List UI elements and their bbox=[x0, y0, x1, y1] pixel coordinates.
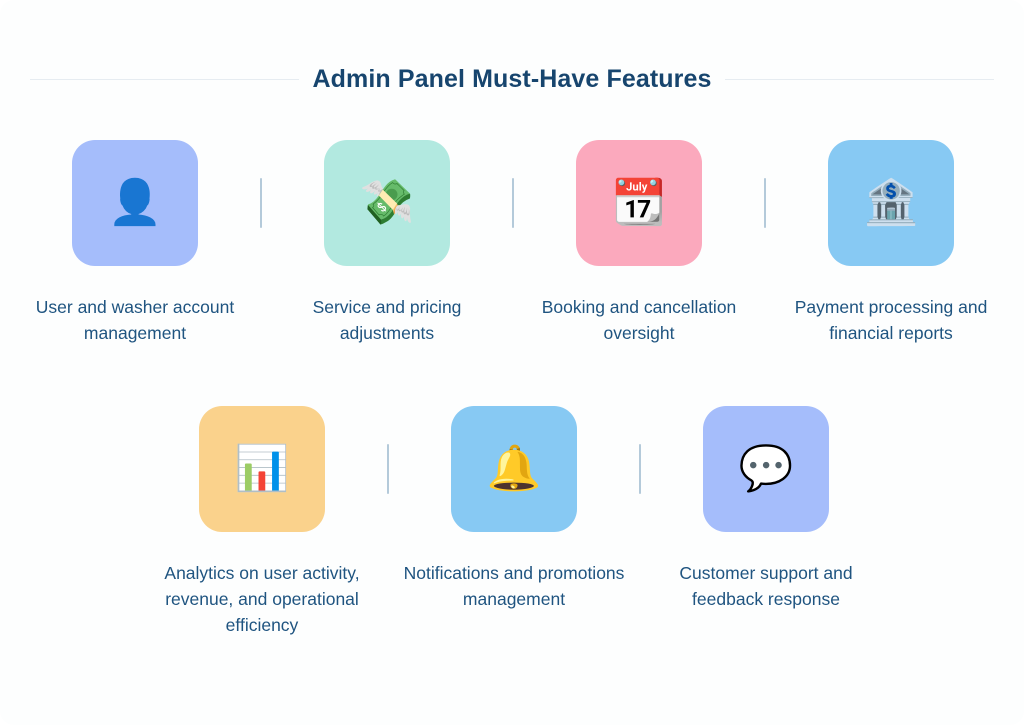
bell-icon: 🔔 bbox=[487, 447, 542, 491]
feature-card[interactable]: 📆Booking and cancellation oversight bbox=[576, 140, 702, 346]
feature-label: User and washer account management bbox=[19, 294, 251, 346]
feature-card[interactable]: 💬Customer support and feedback response bbox=[703, 406, 829, 612]
vertical-divider bbox=[260, 178, 262, 228]
feature-label: Notifications and promotions management bbox=[398, 560, 630, 612]
feature-icon-tile[interactable]: 📊 bbox=[199, 406, 325, 532]
page-title: Admin Panel Must-Have Features bbox=[313, 65, 712, 94]
feature-icon-tile[interactable]: 🔔 bbox=[451, 406, 577, 532]
title-row: Admin Panel Must-Have Features bbox=[0, 60, 1024, 98]
feature-card[interactable]: 👤User and washer account management bbox=[72, 140, 198, 346]
speech-balloon-icon: 💬 bbox=[739, 447, 794, 491]
feature-divider-cell bbox=[198, 140, 324, 266]
feature-card[interactable]: 📊Analytics on user activity, revenue, an… bbox=[199, 406, 325, 638]
title-rule-right bbox=[725, 79, 994, 80]
feature-divider-cell bbox=[325, 406, 451, 532]
vertical-divider bbox=[387, 444, 389, 494]
vertical-divider bbox=[512, 178, 514, 228]
feature-label: Payment processing and financial reports bbox=[775, 294, 1007, 346]
tear-off-calendar-icon: 📆 bbox=[612, 181, 667, 225]
title-rule-left bbox=[30, 79, 299, 80]
feature-card[interactable]: 🔔Notifications and promotions management bbox=[451, 406, 577, 612]
feature-label: Analytics on user activity, revenue, and… bbox=[146, 560, 378, 638]
feature-card[interactable]: 💸Service and pricing adjustments bbox=[324, 140, 450, 346]
money-with-wings-icon: 💸 bbox=[360, 181, 415, 225]
bust-in-silhouette-icon: 👤 bbox=[108, 181, 163, 225]
feature-icon-tile[interactable]: 📆 bbox=[576, 140, 702, 266]
feature-divider-cell bbox=[450, 140, 576, 266]
infographic-poster: Admin Panel Must-Have Features 👤User and… bbox=[0, 0, 1024, 725]
feature-label: Customer support and feedback response bbox=[650, 560, 882, 612]
feature-icon-tile[interactable]: 💸 bbox=[324, 140, 450, 266]
vertical-divider bbox=[764, 178, 766, 228]
bar-chart-icon: 📊 bbox=[235, 447, 290, 491]
feature-card[interactable]: 🏦Payment processing and financial report… bbox=[828, 140, 954, 346]
feature-row-1: 👤User and washer account management💸Serv… bbox=[0, 140, 1024, 346]
bank-icon: 🏦 bbox=[864, 181, 919, 225]
feature-icon-tile[interactable]: 👤 bbox=[72, 140, 198, 266]
vertical-divider bbox=[639, 444, 641, 494]
feature-divider-cell bbox=[702, 140, 828, 266]
feature-row-2: 📊Analytics on user activity, revenue, an… bbox=[0, 406, 1024, 638]
feature-icon-tile[interactable]: 💬 bbox=[703, 406, 829, 532]
feature-divider-cell bbox=[577, 406, 703, 532]
feature-label: Booking and cancellation oversight bbox=[523, 294, 755, 346]
feature-icon-tile[interactable]: 🏦 bbox=[828, 140, 954, 266]
feature-label: Service and pricing adjustments bbox=[271, 294, 503, 346]
